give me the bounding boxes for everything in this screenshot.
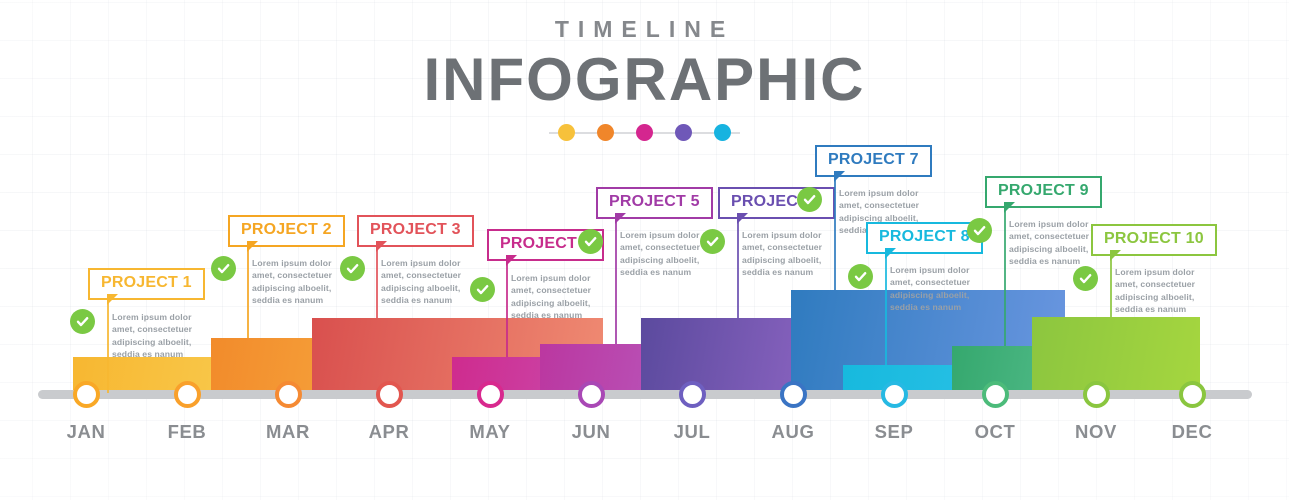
project-7-label-box[interactable]: PROJECT 7 bbox=[815, 145, 932, 177]
month-label-dec: DEC bbox=[1137, 421, 1247, 443]
project-3-check-icon bbox=[340, 256, 365, 281]
project-7-check-icon bbox=[797, 187, 822, 212]
project-5-check-icon bbox=[578, 229, 603, 254]
project-6-description: Lorem ipsum dolor amet, consectetuer adi… bbox=[742, 229, 826, 279]
project-9-check-icon bbox=[967, 218, 992, 243]
project-5-connector-line bbox=[615, 215, 617, 344]
month-label-aug: AUG bbox=[738, 421, 848, 443]
header-kicker: TIMELINE bbox=[0, 18, 1289, 41]
project-9-connector-line bbox=[1004, 204, 1006, 346]
project-6-label-tail bbox=[737, 213, 748, 224]
project-3-connector-line bbox=[376, 243, 378, 318]
month-label-jul: JUL bbox=[637, 421, 747, 443]
project-8-check-icon bbox=[848, 264, 873, 289]
page-title: INFOGRAPHIC bbox=[0, 50, 1289, 110]
project-4-description: Lorem ipsum dolor amet, consectetuer adi… bbox=[511, 272, 595, 322]
infographic-canvas: TIMELINE INFOGRAPHIC JANFEBMARAPRMAYJUNJ… bbox=[0, 0, 1289, 500]
project-5-label-box[interactable]: PROJECT 5 bbox=[596, 187, 713, 219]
header-dot-connector bbox=[614, 132, 636, 134]
project-3-label-box[interactable]: PROJECT 3 bbox=[357, 215, 474, 247]
project-4-connector-line bbox=[506, 257, 508, 357]
project-8-connector-line bbox=[885, 250, 887, 365]
project-9-label-box[interactable]: PROJECT 9 bbox=[985, 176, 1102, 208]
project-7-label-tail bbox=[834, 171, 845, 182]
month-label-oct: OCT bbox=[940, 421, 1050, 443]
project-6-check-icon bbox=[700, 229, 725, 254]
timeline-node-sep[interactable] bbox=[881, 381, 908, 408]
project-2-label-box[interactable]: PROJECT 2 bbox=[228, 215, 345, 247]
timeline-node-jun[interactable] bbox=[578, 381, 605, 408]
bar-project-10 bbox=[1032, 317, 1200, 393]
project-2-connector-line bbox=[247, 243, 249, 338]
project-2-check-icon bbox=[211, 256, 236, 281]
project-9-label-tail bbox=[1004, 202, 1015, 213]
header-dot-2 bbox=[597, 124, 614, 141]
project-10-description: Lorem ipsum dolor amet, consectetuer adi… bbox=[1115, 266, 1199, 316]
header-dot-connector bbox=[653, 132, 675, 134]
project-2-label-tail bbox=[247, 241, 258, 252]
project-1-description: Lorem ipsum dolor amet, consectetuer adi… bbox=[112, 311, 196, 361]
timeline-node-dec[interactable] bbox=[1179, 381, 1206, 408]
project-4-label-tail bbox=[506, 255, 517, 266]
header-dot-row bbox=[0, 124, 1289, 141]
project-7-connector-line bbox=[834, 173, 836, 290]
month-label-feb: FEB bbox=[132, 421, 242, 443]
month-label-nov: NOV bbox=[1041, 421, 1151, 443]
page-header: TIMELINE INFOGRAPHIC bbox=[0, 0, 1289, 141]
project-1-label-box[interactable]: PROJECT 1 bbox=[88, 268, 205, 300]
timeline-node-nov[interactable] bbox=[1083, 381, 1110, 408]
project-8-label-tail bbox=[885, 248, 896, 259]
header-dot-connector bbox=[549, 132, 558, 134]
project-4-check-icon bbox=[470, 277, 495, 302]
timeline-axis bbox=[38, 390, 1252, 399]
month-label-may: MAY bbox=[435, 421, 545, 443]
project-3-label-tail bbox=[376, 241, 387, 252]
project-1-label-tail bbox=[107, 294, 118, 305]
project-6-connector-line bbox=[737, 215, 739, 318]
header-dot-connector bbox=[575, 132, 597, 134]
month-label-mar: MAR bbox=[233, 421, 343, 443]
project-3-description: Lorem ipsum dolor amet, consectetuer adi… bbox=[381, 257, 465, 307]
project-1-connector-line bbox=[107, 296, 109, 393]
project-10-connector-line bbox=[1110, 252, 1112, 317]
timeline-node-apr[interactable] bbox=[376, 381, 403, 408]
project-10-check-icon bbox=[1073, 266, 1098, 291]
project-2-description: Lorem ipsum dolor amet, consectetuer adi… bbox=[252, 257, 336, 307]
header-dot-connector bbox=[692, 132, 714, 134]
timeline-node-jan[interactable] bbox=[73, 381, 100, 408]
header-dot-4 bbox=[675, 124, 692, 141]
timeline-node-mar[interactable] bbox=[275, 381, 302, 408]
project-10-label-tail bbox=[1110, 250, 1121, 261]
timeline-node-aug[interactable] bbox=[780, 381, 807, 408]
month-label-sep: SEP bbox=[839, 421, 949, 443]
timeline-node-may[interactable] bbox=[477, 381, 504, 408]
project-1-check-icon bbox=[70, 309, 95, 334]
month-label-apr: APR bbox=[334, 421, 444, 443]
project-8-description: Lorem ipsum dolor amet, consectetuer adi… bbox=[890, 264, 974, 314]
timeline-node-oct[interactable] bbox=[982, 381, 1009, 408]
timeline-node-jul[interactable] bbox=[679, 381, 706, 408]
project-9-description: Lorem ipsum dolor amet, consectetuer adi… bbox=[1009, 218, 1093, 268]
project-8-label-box[interactable]: PROJECT 8 bbox=[866, 222, 983, 254]
header-dot-connector bbox=[731, 132, 740, 134]
header-dot-3 bbox=[636, 124, 653, 141]
header-dot-5 bbox=[714, 124, 731, 141]
month-label-jan: JAN bbox=[31, 421, 141, 443]
timeline-node-feb[interactable] bbox=[174, 381, 201, 408]
project-5-description: Lorem ipsum dolor amet, consectetuer adi… bbox=[620, 229, 704, 279]
project-5-label-tail bbox=[615, 213, 626, 224]
month-label-jun: JUN bbox=[536, 421, 646, 443]
header-dot-1 bbox=[558, 124, 575, 141]
